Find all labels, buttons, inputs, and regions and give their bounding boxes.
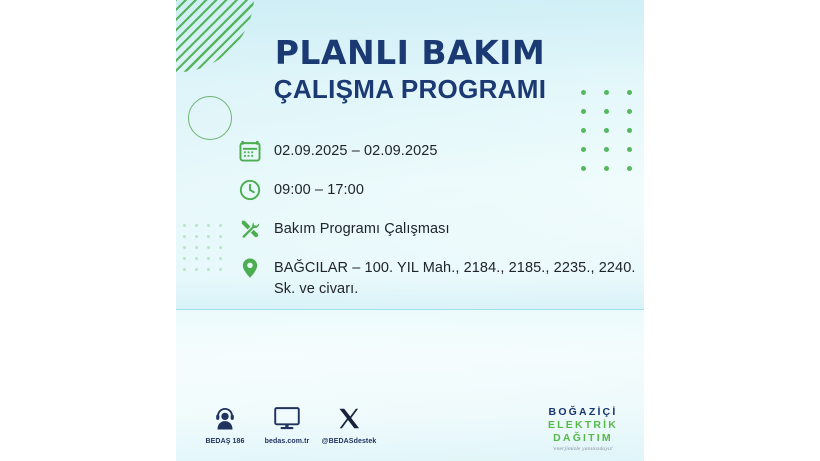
monitor-icon (256, 405, 318, 431)
info-row-time: 09:00 – 17:00 (238, 178, 638, 202)
info-list: 02.09.2025 – 02.09.2025 09:00 – 17:00 (238, 139, 638, 314)
decor-dot (219, 246, 222, 249)
info-row-worktype-text: Bakım Programı Çalışması (274, 217, 450, 240)
brand-tagline: 'enerjimizle yanınızdayız' (533, 446, 633, 452)
call-center-agent-icon (194, 405, 256, 431)
contact-website[interactable]: bedas.com.tr (256, 405, 318, 445)
brand-line-1: BOĞAZİÇİ (533, 406, 633, 419)
clock-icon (238, 178, 262, 202)
title-subtitle: ÇALIŞMA PROGRAMI (176, 75, 644, 103)
decor-dot (207, 235, 210, 238)
contact-phone-label: BEDAŞ 186 (194, 438, 256, 445)
contact-website-label: bedas.com.tr (256, 438, 318, 445)
decor-dot (207, 268, 210, 271)
info-row-date-text: 02.09.2025 – 02.09.2025 (274, 139, 438, 162)
title-main: PLANLI BAKIM (176, 36, 644, 70)
info-row-location: BAĞCILAR – 100. YIL Mah., 2184., 2185., … (238, 256, 638, 299)
decor-dot (195, 257, 198, 260)
decor-dot (219, 224, 222, 227)
brand-line-2: ELEKTRİK (533, 419, 633, 432)
decor-dot (207, 257, 210, 260)
poster-card: PLANLI BAKIM ÇALIŞMA PROGRAMI (176, 0, 644, 461)
dot-grid-left-decoration (183, 224, 231, 279)
decor-dot (604, 128, 609, 133)
poster-root: PLANLI BAKIM ÇALIŞMA PROGRAMI (0, 0, 820, 461)
decor-dot (219, 268, 222, 271)
decor-dot (627, 109, 632, 114)
decor-dot (183, 224, 186, 227)
decor-dot (183, 268, 186, 271)
info-row-location-text: BAĞCILAR – 100. YIL Mah., 2184., 2185., … (274, 256, 638, 299)
decor-dot (195, 246, 198, 249)
calendar-icon (238, 139, 262, 163)
decor-dot (581, 109, 586, 114)
footer-contacts: BEDAŞ 186 bedas.com.tr (194, 405, 380, 445)
decor-dot (207, 224, 210, 227)
info-row-time-text: 09:00 – 17:00 (274, 178, 364, 201)
decor-dot (219, 257, 222, 260)
brand-line-3: DAĞITIM (533, 432, 633, 445)
x-twitter-icon (318, 405, 380, 431)
decor-dot (581, 128, 586, 133)
decor-dot (183, 246, 186, 249)
decor-dot (207, 246, 210, 249)
location-pin-icon (238, 256, 262, 280)
decor-dot (183, 235, 186, 238)
tools-icon (238, 217, 262, 241)
brand-logo: BOĞAZİÇİ ELEKTRİK DAĞITIM 'enerjimizle y… (533, 406, 633, 452)
decor-dot (195, 224, 198, 227)
decor-dot (183, 257, 186, 260)
contact-phone[interactable]: BEDAŞ 186 (194, 405, 256, 445)
decor-dot (195, 268, 198, 271)
page-title: PLANLI BAKIM ÇALIŞMA PROGRAMI (176, 36, 644, 103)
contact-social[interactable]: @BEDASdestek (318, 405, 380, 445)
decor-dot (219, 235, 222, 238)
decor-dot (195, 235, 198, 238)
info-row-date: 02.09.2025 – 02.09.2025 (238, 139, 638, 163)
decor-dot (604, 109, 609, 114)
contact-social-label: @BEDASdestek (318, 438, 380, 445)
decor-dot (627, 128, 632, 133)
info-row-worktype: Bakım Programı Çalışması (238, 217, 638, 241)
